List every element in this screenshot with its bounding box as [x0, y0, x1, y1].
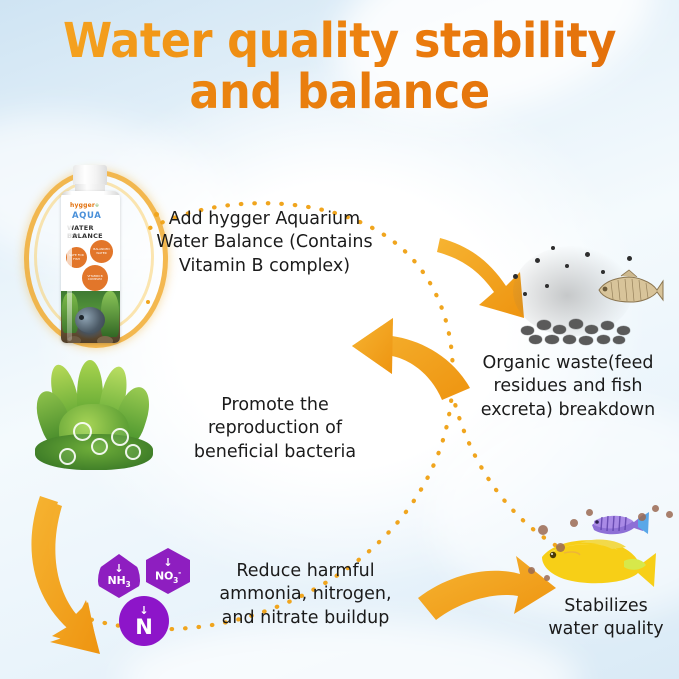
organic-waste-illustration: [505, 240, 665, 350]
brand-logo: hygger®: [70, 202, 99, 209]
label-badge: BALANCED WATER: [90, 240, 113, 263]
waste-pellet: [597, 335, 610, 344]
food-pellet: [638, 513, 646, 521]
caption-line: excreta) breakdown: [462, 399, 674, 422]
aquarium-fish-illustration: [520, 495, 679, 590]
badge-nitrate: ↓ NO3-: [146, 548, 190, 594]
step-caption-stabilize-water: Stabilizes water quality: [533, 595, 679, 642]
badge-nitrogen: ↓ N: [119, 596, 169, 646]
caption-line: Stabilizes: [533, 595, 679, 618]
step-caption-organic-waste: Organic waste(feed residues and fish exc…: [462, 352, 674, 422]
label-badge: VITAMIN B COMPLEX: [82, 265, 108, 291]
step-caption-add-product: Add hygger Aquarium Water Balance (Conta…: [143, 208, 386, 278]
waste-pellet: [529, 335, 542, 344]
oxygen-bubble: [73, 422, 92, 441]
caption-line: beneficial bacteria: [185, 441, 365, 464]
caption-line: Add hygger Aquarium: [143, 208, 386, 231]
oxygen-bubble: [91, 438, 108, 455]
aquatic-plants-illustration: [25, 360, 190, 490]
bottle-highlight: [67, 221, 72, 341]
title-line-2: and balance: [24, 67, 655, 118]
food-pellet: [586, 509, 593, 516]
caption-line: Organic waste(feed: [462, 352, 674, 375]
arrow-down-icon: ↓: [163, 557, 172, 568]
caption-line: Water Balance (Contains: [143, 231, 386, 254]
waste-pellet: [617, 326, 630, 335]
waste-pellet: [553, 325, 566, 334]
product-line: AQUA: [72, 211, 101, 221]
waste-pellet: [613, 336, 625, 344]
caption-line: residues and fish: [462, 375, 674, 398]
debris-particle: [523, 292, 527, 296]
waste-pellet-group: [517, 308, 645, 346]
food-pellet: [544, 575, 550, 581]
oxygen-bubble: [125, 444, 141, 460]
debris-particle: [551, 246, 555, 250]
brand-trademark: ®: [95, 203, 99, 208]
badge-nitrogen-label: N: [135, 617, 152, 638]
caption-line: water quality: [533, 618, 679, 641]
product-bottle-illustration: hygger® AQUA WATER BALANCE 500ml SAFE FO…: [22, 160, 162, 350]
badge-nitrate-label: NO3-: [155, 569, 181, 584]
infographic-canvas: Water quality stability and balance: [0, 0, 679, 679]
product-name: WATER BALANCE: [67, 224, 120, 240]
bottle: hygger® AQUA WATER BALANCE 500ml SAFE FO…: [57, 165, 125, 345]
ring-sparkle: [146, 300, 150, 304]
waste-pellet: [601, 321, 614, 330]
caption-line: Vitamin B complex): [143, 255, 386, 278]
arrow-down-icon: ↓: [139, 605, 148, 616]
step-caption-reduce-buildup: Reduce harmful ammonia, nitrogen, and ni…: [198, 560, 413, 630]
title-line-1: Water quality stability: [24, 16, 655, 67]
caption-line: reproduction of: [185, 417, 365, 440]
food-pellet: [528, 567, 535, 574]
arrow-to-reduce: [31, 496, 100, 654]
debris-particle: [513, 274, 518, 279]
food-pellet: [652, 505, 659, 512]
waste-pellet: [563, 335, 576, 344]
dead-fish-icon: [591, 268, 665, 308]
oxygen-bubble: [111, 428, 129, 446]
arrow-down-icon: ↓: [114, 563, 123, 574]
badge-ammonia-label: NH3: [107, 575, 130, 589]
waste-pellet: [585, 325, 598, 334]
badge-ammonia: ↓ NH3: [98, 554, 140, 598]
food-pellet: [538, 525, 548, 535]
waste-pellet: [579, 336, 593, 345]
caption-line: Reduce harmful: [198, 560, 413, 583]
waste-pellet: [521, 326, 534, 335]
debris-particle: [565, 264, 569, 268]
brand-name: hygger: [70, 202, 95, 209]
caption-line: and nitrate buildup: [198, 607, 413, 630]
debris-particle: [535, 258, 540, 263]
debris-particle: [627, 256, 632, 261]
waste-pellet: [545, 335, 559, 344]
caption-line: Promote the: [185, 394, 365, 417]
waste-pellet: [569, 319, 583, 329]
photo-discus-fish: [75, 307, 105, 333]
photo-rock: [97, 336, 113, 343]
food-pellet: [666, 511, 673, 518]
debris-particle: [545, 284, 549, 288]
oxygen-bubble: [59, 448, 76, 465]
step-caption-promote-bacteria: Promote the reproduction of beneficial b…: [185, 394, 365, 464]
bottle-cap: [73, 165, 107, 185]
page-title: Water quality stability and balance: [24, 16, 655, 118]
food-pellet: [556, 543, 565, 552]
waste-pellet: [537, 320, 551, 330]
food-pellet: [570, 519, 578, 527]
arrow-to-bacteria: [352, 318, 470, 400]
caption-line: ammonia, nitrogen,: [198, 583, 413, 606]
bottle-body: hygger® AQUA WATER BALANCE 500ml SAFE FO…: [61, 191, 120, 343]
debris-particle: [585, 252, 590, 257]
